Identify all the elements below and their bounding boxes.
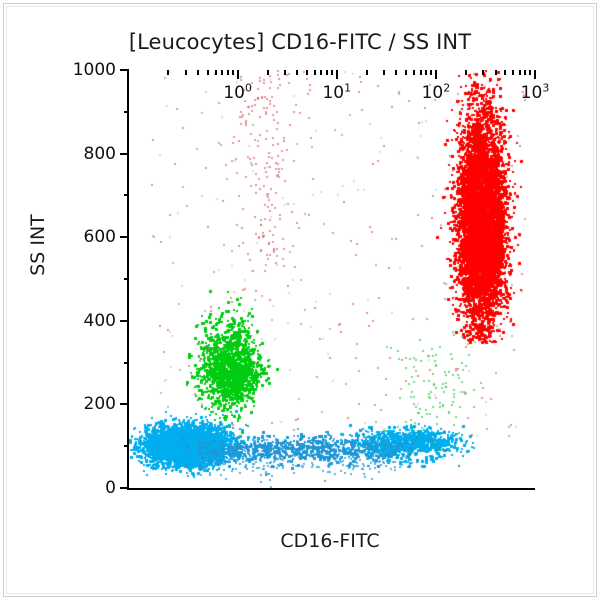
plot-area[interactable]: 02004006008001000 100101102103 xyxy=(127,70,535,490)
x-axis-tick-label: 101 xyxy=(322,83,351,103)
y-axis-tick-label: 600 xyxy=(84,227,116,247)
x-axis-tick-minor xyxy=(320,70,322,75)
x-axis-tick-minor xyxy=(326,70,328,75)
x-axis-tick-minor xyxy=(504,70,506,75)
y-axis-tick-label: 800 xyxy=(84,144,116,164)
x-axis-tick-label: 100 xyxy=(223,83,252,103)
x-axis-tick-minor xyxy=(232,70,234,75)
x-axis-tick-minor xyxy=(405,70,407,75)
x-axis-tick-minor xyxy=(383,70,385,75)
x-axis-tick-minor xyxy=(366,70,368,75)
x-axis-tick-minor xyxy=(482,70,484,75)
x-axis-tick-minor xyxy=(395,70,397,75)
x-axis-tick-minor xyxy=(524,70,526,75)
page-title: [Leucocytes] CD16-FITC / SS INT xyxy=(0,30,600,54)
x-axis-tick-major xyxy=(237,70,239,79)
x-axis-tick-minor xyxy=(495,70,497,75)
y-axis-tick-major xyxy=(120,69,129,71)
x-axis-tick-minor xyxy=(413,70,415,75)
y-axis-tick-label: 200 xyxy=(84,394,116,414)
y-axis-tick-minor xyxy=(124,362,129,364)
y-axis-tick-major xyxy=(120,236,129,238)
x-axis-tick-minor xyxy=(425,70,427,75)
x-axis-tick-minor xyxy=(284,70,286,75)
x-axis-tick-minor xyxy=(465,70,467,75)
y-axis-tick-major xyxy=(120,153,129,155)
x-axis-tick-minor xyxy=(331,70,333,75)
x-axis-tick-major xyxy=(336,70,338,79)
y-axis-tick-label: 400 xyxy=(84,311,116,331)
x-axis-tick-label: 103 xyxy=(521,83,550,103)
y-axis-tick-major xyxy=(120,487,129,489)
x-axis-tick-minor xyxy=(529,70,531,75)
x-axis-tick-minor xyxy=(167,70,169,75)
x-axis-tick-minor xyxy=(512,70,514,75)
scatter-canvas[interactable] xyxy=(129,70,535,488)
x-axis-tick-minor xyxy=(430,70,432,75)
x-axis-title: CD16-FITC xyxy=(280,530,379,552)
y-axis-tick-major xyxy=(120,403,129,405)
y-axis-tick-major xyxy=(120,320,129,322)
y-axis-tick-label: 1000 xyxy=(73,60,116,80)
y-axis-tick-minor xyxy=(124,111,129,113)
x-axis-tick-minor xyxy=(519,70,521,75)
x-axis-tick-minor xyxy=(420,70,422,75)
x-axis-tick-minor xyxy=(314,70,316,75)
x-axis-tick-minor xyxy=(221,70,223,75)
x-axis-tick-minor xyxy=(267,70,269,75)
y-axis-title: SS INT xyxy=(27,214,49,276)
y-axis-tick-label: 0 xyxy=(105,478,116,498)
x-axis-tick-minor xyxy=(227,70,229,75)
y-axis-tick-minor xyxy=(124,194,129,196)
x-axis-tick-minor xyxy=(296,70,298,75)
x-axis-tick-label: 102 xyxy=(422,83,451,103)
y-axis-tick-minor xyxy=(124,278,129,280)
x-axis-tick-minor xyxy=(197,70,199,75)
x-axis-tick-minor xyxy=(207,70,209,75)
x-axis-tick-minor xyxy=(306,70,308,75)
x-axis-tick-minor xyxy=(185,70,187,75)
x-axis-tick-major xyxy=(534,70,536,79)
x-axis-tick-major xyxy=(435,70,437,79)
y-axis-tick-minor xyxy=(124,445,129,447)
x-axis-tick-minor xyxy=(215,70,217,75)
flow-cytometry-plot-window: [Leucocytes] CD16-FITC / SS INT 02004006… xyxy=(0,0,600,600)
